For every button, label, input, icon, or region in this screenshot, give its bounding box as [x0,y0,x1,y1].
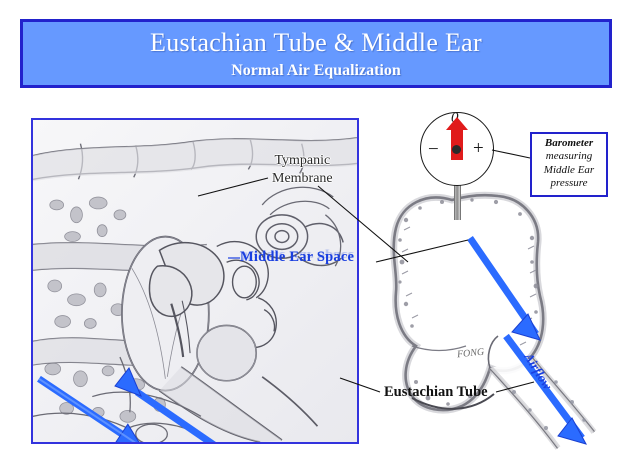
label-middle-ear-space: Middle Ear Space [240,249,354,266]
tympanic-line-2: Membrane [272,170,333,188]
label-tympanic-membrane: Tympanic Membrane [272,152,333,187]
tympanic-line-1: Tympanic [272,152,333,170]
leader-lines [0,0,640,474]
label-eustachian-tube: Eustachian Tube [384,384,488,401]
